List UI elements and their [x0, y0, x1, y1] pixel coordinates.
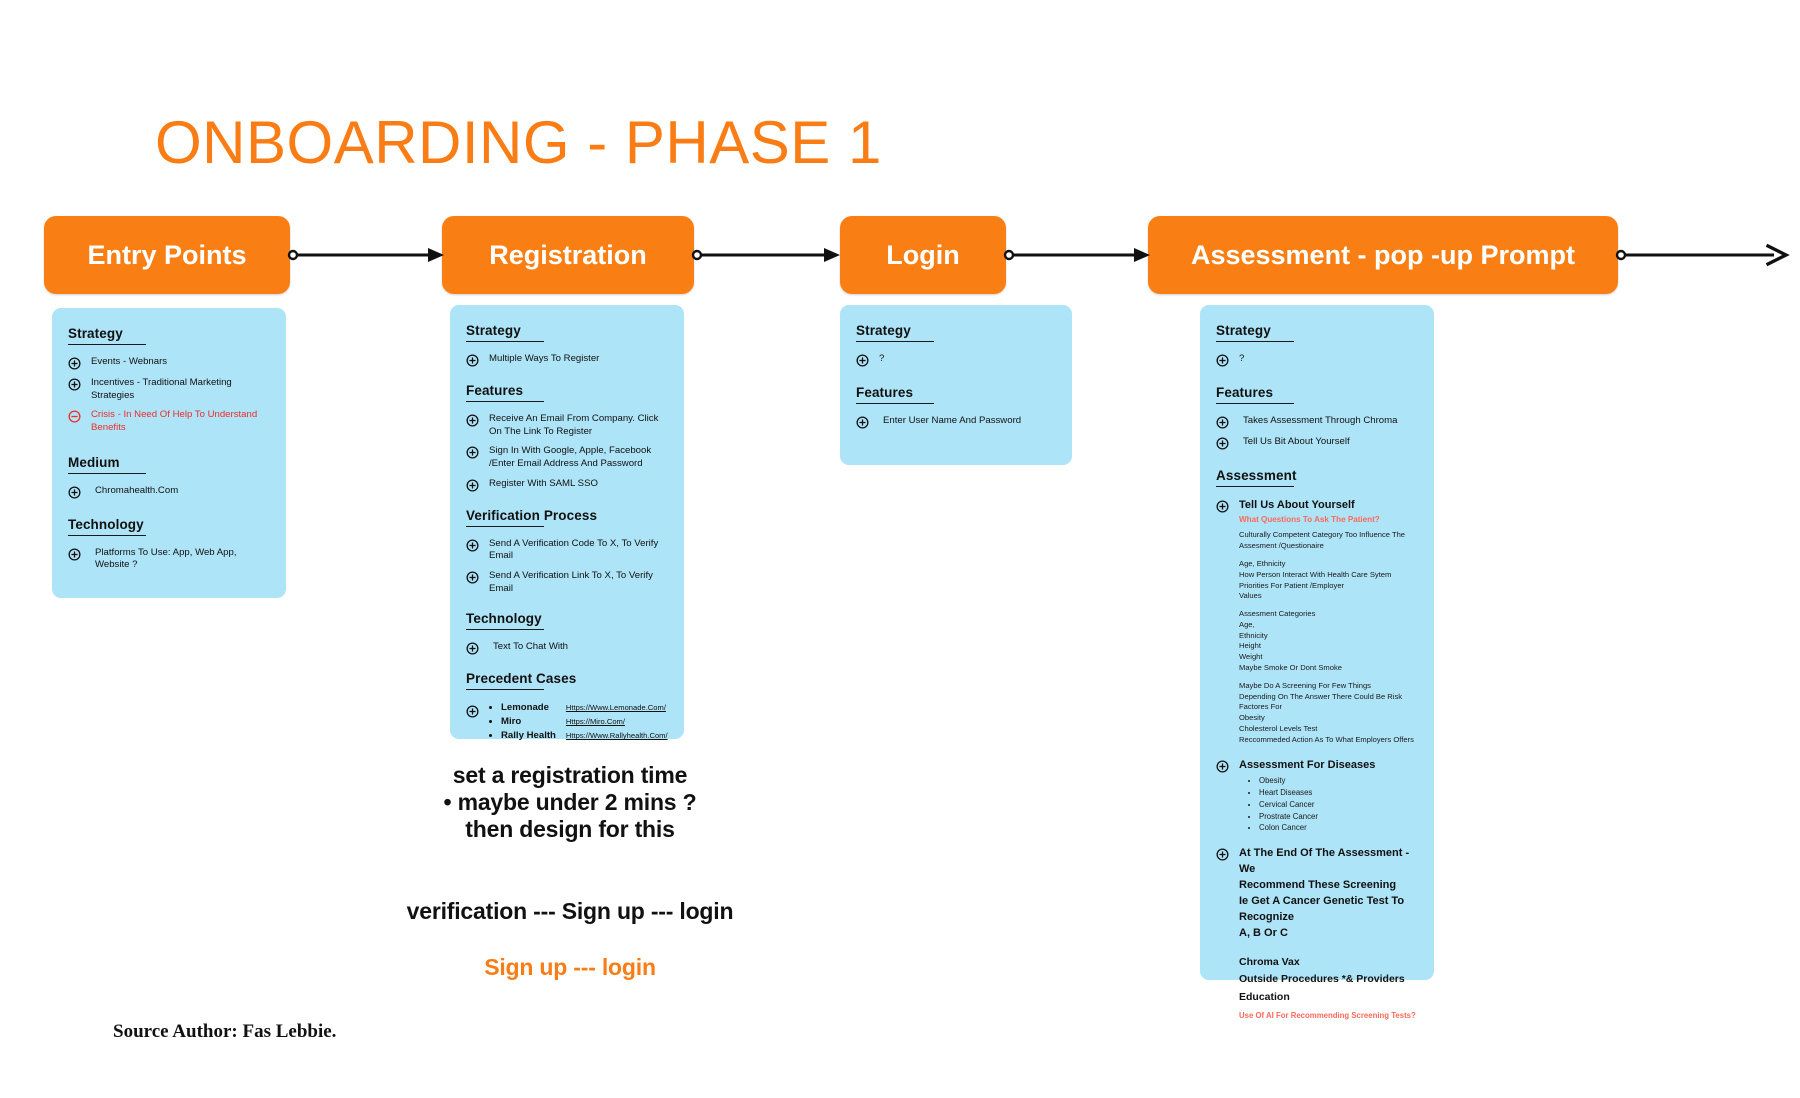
- plus-circle-icon: [1216, 354, 1229, 367]
- plus-circle-icon: [466, 414, 479, 427]
- list-item[interactable]: Send A Verification Code To X, To Verify…: [466, 538, 668, 563]
- detail-title: Assessment For Diseases: [1239, 758, 1375, 774]
- list-item-label: Text To Chat With: [493, 641, 568, 654]
- list-item: Cervical Cancer: [1259, 799, 1375, 811]
- connector-arrow-entry-to-registration: [288, 243, 448, 267]
- detail-line: Priorities For Patient /Employer: [1239, 581, 1418, 592]
- list-item-label: Events - Webnars: [91, 356, 167, 369]
- link-miro[interactable]: Https://Miro.Com/: [566, 715, 668, 729]
- tail-line: Chroma Vax: [1239, 954, 1418, 972]
- list-item[interactable]: ?: [856, 353, 1056, 367]
- detail-line: Maybe Do A Screening For Few Things: [1239, 681, 1418, 692]
- list-item-label: ?: [1239, 353, 1244, 366]
- plus-circle-icon: [856, 416, 869, 429]
- note-line: set a registration time: [360, 762, 780, 789]
- section-divider: [856, 341, 934, 342]
- card-section-technology: Technology Text To Chat With: [466, 611, 668, 655]
- plus-circle-icon: [68, 357, 81, 370]
- detail-card-login: Strategy ? Features Enter User Name And …: [840, 305, 1072, 465]
- precedent-case-names: Lemonade Miro Rally Health: [489, 701, 556, 743]
- plus-circle-icon: [68, 378, 81, 391]
- detail-line: Ethnicity: [1239, 631, 1418, 642]
- detail-lines: At The End Of The Assessment - We Recomm…: [1239, 846, 1418, 942]
- section-heading: Precedent Cases: [466, 671, 668, 686]
- card-section-verification-process: Verification Process Send A Verification…: [466, 508, 668, 596]
- detail-line: Height: [1239, 641, 1418, 652]
- note-flow-sequence: verification --- Sign up --- login: [330, 898, 810, 925]
- section-heading: Strategy: [856, 323, 1056, 338]
- section-divider: [68, 344, 146, 345]
- section-heading: Features: [1216, 385, 1418, 400]
- list-item[interactable]: Takes Assessment Through Chroma: [1216, 415, 1418, 429]
- connector-arrow-login-to-assessment: [1004, 243, 1154, 267]
- section-heading: Features: [466, 383, 668, 398]
- detail-group-2: Age, Ethnicity How Person Interact With …: [1239, 559, 1418, 602]
- list-item[interactable]: Incentives - Traditional Marketing Strat…: [68, 377, 270, 402]
- list-item[interactable]: Enter User Name And Password: [856, 415, 1056, 429]
- connector-arrow-registration-to-login: [692, 243, 844, 267]
- page-title: ONBOARDING - PHASE 1: [155, 108, 882, 177]
- disease-list: Obesity Heart Diseases Cervical Cancer P…: [1249, 775, 1375, 833]
- flow-node-label: Login: [886, 240, 959, 271]
- card-section-features: Features Enter User Name And Password: [856, 385, 1056, 429]
- note-line: then design for this: [360, 816, 780, 843]
- section-heading: Strategy: [68, 326, 270, 341]
- list-item-label: Send A Verification Code To X, To Verify…: [489, 538, 668, 563]
- detail-question: What Questions To Ask The Patient?: [1239, 515, 1418, 526]
- detail-line: Depending On The Answer There Could Be R…: [1239, 692, 1418, 714]
- list-item: Lemonade: [501, 701, 556, 715]
- list-item[interactable]: Register With SAML SSO: [466, 478, 668, 492]
- detail-group-3: Assesment Categories Age, Ethnicity Heig…: [1239, 609, 1418, 674]
- plus-circle-icon: [466, 446, 479, 459]
- assessment-tail-list: Chroma Vax Outside Procedures *& Provide…: [1239, 954, 1418, 1023]
- list-item[interactable]: Platforms To Use: App, Web App, Website …: [68, 547, 270, 572]
- detail-line: Values: [1239, 591, 1418, 602]
- plus-circle-icon: [68, 486, 81, 499]
- list-item-label: Multiple Ways To Register: [489, 353, 599, 366]
- section-heading: Medium: [68, 455, 270, 470]
- section-divider: [466, 341, 544, 342]
- list-item: Prostrate Cancer: [1259, 811, 1375, 823]
- detail-line: At The End Of The Assessment - We: [1239, 846, 1418, 878]
- section-heading: Strategy: [1216, 323, 1418, 338]
- list-item-label: Receive An Email From Company. Click On …: [489, 413, 668, 438]
- detail-line: Maybe Smoke Or Dont Smoke: [1239, 663, 1418, 674]
- plus-circle-icon: [466, 642, 479, 655]
- section-divider: [68, 473, 146, 474]
- detail-line: Cholesterol Levels Test: [1239, 724, 1418, 735]
- list-item[interactable]: Send A Verification Link To X, To Verify…: [466, 570, 668, 595]
- list-item[interactable]: ?: [1216, 353, 1418, 367]
- detail-line: A, B Or C: [1239, 926, 1418, 942]
- section-divider: [1216, 486, 1294, 487]
- section-divider: [466, 526, 544, 527]
- section-divider: [466, 401, 544, 402]
- list-item-label: Sign In With Google, Apple, Facebook /En…: [489, 445, 668, 470]
- detail-line: Age, Ethnicity: [1239, 559, 1418, 570]
- plus-circle-icon: [466, 571, 479, 584]
- list-item-label: Chromahealth.Com: [95, 485, 178, 498]
- connector-arrow-assessment-to-next: [1616, 243, 1788, 267]
- minus-circle-icon: [68, 410, 81, 423]
- list-item-label: Register With SAML SSO: [489, 478, 598, 491]
- plus-circle-icon: [1216, 500, 1229, 513]
- detail-line: Culturally Competent Category Too Influe…: [1239, 530, 1418, 541]
- section-heading: Assessment: [1216, 468, 1418, 483]
- assessment-detail-diseases[interactable]: Assessment For Diseases Obesity Heart Di…: [1216, 758, 1418, 834]
- list-item-label: ?: [879, 353, 884, 366]
- detail-title: Tell Us About Yourself: [1239, 498, 1418, 514]
- list-item: Heart Diseases: [1259, 787, 1375, 799]
- list-item-label: Takes Assessment Through Chroma: [1243, 415, 1397, 428]
- detail-group-4: Maybe Do A Screening For Few Things Depe…: [1239, 681, 1418, 746]
- plus-circle-icon: [1216, 416, 1229, 429]
- tail-question: Use Of AI For Recommending Screening Tes…: [1239, 1009, 1418, 1022]
- plus-circle-icon: [1216, 760, 1229, 773]
- flow-node-label: Registration: [489, 240, 647, 271]
- detail-card-assessment: Strategy ? Features Takes Assessment Thr…: [1200, 305, 1434, 980]
- card-section-strategy: Strategy ?: [1216, 323, 1418, 367]
- section-divider: [466, 689, 544, 690]
- detail-line: Ie Get A Cancer Genetic Test To Recogniz…: [1239, 894, 1418, 926]
- section-heading: Technology: [68, 517, 270, 532]
- plus-circle-icon: [1216, 437, 1229, 450]
- section-divider: [1216, 341, 1294, 342]
- section-heading: Strategy: [466, 323, 668, 338]
- list-item-alert[interactable]: Crisis - In Need Of Help To Understand B…: [68, 409, 270, 434]
- card-section-strategy: Strategy ?: [856, 323, 1056, 367]
- detail-line: Assesment Categories: [1239, 609, 1418, 620]
- detail-line: Reccommeded Action As To What Employers …: [1239, 735, 1418, 746]
- list-item-label: Send A Verification Link To X, To Verify…: [489, 570, 668, 595]
- assessment-detail-end-recommendation[interactable]: At The End Of The Assessment - We Recomm…: [1216, 846, 1418, 942]
- list-item: Colon Cancer: [1259, 822, 1375, 834]
- card-section-features: Features Takes Assessment Through Chroma…: [1216, 385, 1418, 450]
- section-divider: [68, 535, 146, 536]
- detail-line: Obesity: [1239, 713, 1418, 724]
- card-section-medium: Medium Chromahealth.Com: [68, 455, 270, 499]
- flowchart-canvas: ONBOARDING - PHASE 1 Entry Points Regist…: [0, 0, 1800, 1098]
- precedent-case-links: Https://Www.Lemonade.Com/ Https://Miro.C…: [566, 701, 668, 743]
- plus-circle-icon: [68, 548, 81, 561]
- flow-node-label: Assessment - pop -up Prompt: [1191, 240, 1575, 271]
- tail-line: Education: [1239, 989, 1418, 1007]
- card-section-strategy: Strategy Events - Webnars Incentives - T…: [68, 326, 270, 435]
- link-lemonade[interactable]: Https://Www.Lemonade.Com/: [566, 701, 668, 715]
- detail-card-entry-points: Strategy Events - Webnars Incentives - T…: [52, 308, 286, 598]
- list-item-label: Tell Us Bit About Yourself: [1243, 436, 1350, 449]
- list-item-label: Crisis - In Need Of Help To Understand B…: [91, 409, 270, 434]
- note-line: • maybe under 2 mins ?: [360, 789, 780, 816]
- list-item-label: Enter User Name And Password: [883, 415, 1021, 428]
- note-flow-sequence-alt: Sign up --- login: [330, 954, 810, 981]
- flow-node-entry-points[interactable]: Entry Points: [44, 216, 290, 294]
- detail-line: Assesment /Questionaire: [1239, 541, 1418, 552]
- section-heading: Technology: [466, 611, 668, 626]
- plus-circle-icon: [466, 479, 479, 492]
- detail-line: How Person Interact With Health Care Syt…: [1239, 570, 1418, 581]
- section-divider: [1216, 403, 1294, 404]
- card-section-precedent-cases: Precedent Cases Lemonade Miro Rally Heal…: [466, 671, 668, 743]
- list-item[interactable]: Events - Webnars: [68, 356, 270, 370]
- list-item[interactable]: Receive An Email From Company. Click On …: [466, 413, 668, 438]
- card-section-features: Features Receive An Email From Company. …: [466, 383, 668, 492]
- plus-circle-icon: [466, 539, 479, 552]
- list-item: Obesity: [1259, 775, 1375, 787]
- list-item[interactable]: Sign In With Google, Apple, Facebook /En…: [466, 445, 668, 470]
- flow-node-registration[interactable]: Registration: [442, 216, 694, 294]
- list-item[interactable]: Text To Chat With: [466, 641, 668, 655]
- plus-circle-icon: [466, 705, 479, 718]
- card-section-assessment: Assessment Tell Us About Yourself What Q…: [1216, 468, 1418, 1022]
- note-registration-time: set a registration time • maybe under 2 …: [360, 762, 780, 843]
- list-item: Miro: [501, 715, 556, 729]
- flow-node-login[interactable]: Login: [840, 216, 1006, 294]
- card-section-technology: Technology Platforms To Use: App, Web Ap…: [68, 517, 270, 572]
- list-item[interactable]: Chromahealth.Com: [68, 485, 270, 499]
- plus-circle-icon: [466, 354, 479, 367]
- list-item[interactable]: Multiple Ways To Register: [466, 353, 668, 367]
- card-section-strategy: Strategy Multiple Ways To Register: [466, 323, 668, 367]
- list-item[interactable]: Tell Us Bit About Yourself: [1216, 436, 1418, 450]
- detail-card-registration: Strategy Multiple Ways To Register Featu…: [450, 305, 684, 739]
- section-divider: [466, 629, 544, 630]
- detail-line: Weight: [1239, 652, 1418, 663]
- flow-node-assessment[interactable]: Assessment - pop -up Prompt: [1148, 216, 1618, 294]
- list-item-label: Incentives - Traditional Marketing Strat…: [91, 377, 270, 402]
- section-divider: [856, 403, 934, 404]
- assessment-detail-tell-us-about-yourself[interactable]: Tell Us About Yourself What Questions To…: [1216, 498, 1418, 746]
- section-heading: Verification Process: [466, 508, 668, 523]
- precedent-cases-row: Lemonade Miro Rally Health Https://Www.L…: [466, 701, 668, 743]
- detail-line: Age,: [1239, 620, 1418, 631]
- tail-line: Outside Procedures *& Providers: [1239, 971, 1418, 989]
- link-rally-health[interactable]: Https://Www.Rallyhealth.Com/: [566, 729, 668, 743]
- section-heading: Features: [856, 385, 1056, 400]
- plus-circle-icon: [1216, 848, 1229, 861]
- list-item: Rally Health: [501, 729, 556, 743]
- list-item-label: Platforms To Use: App, Web App, Website …: [95, 547, 270, 572]
- source-author: Source Author: Fas Lebbie.: [113, 1021, 336, 1043]
- detail-line: Recommend These Screening: [1239, 878, 1418, 894]
- detail-group-1: Culturally Competent Category Too Influe…: [1239, 530, 1418, 552]
- flow-node-label: Entry Points: [87, 240, 246, 271]
- plus-circle-icon: [856, 354, 869, 367]
